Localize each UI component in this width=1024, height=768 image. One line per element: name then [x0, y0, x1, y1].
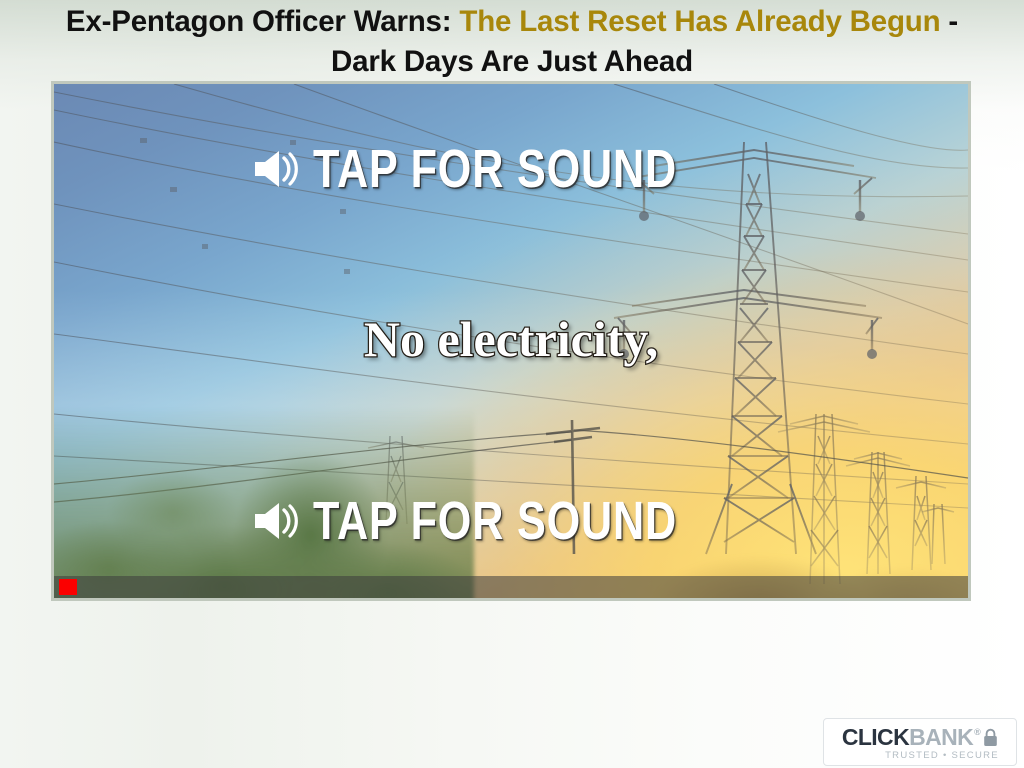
tap-for-sound-overlay-top[interactable]: TAP FOR SOUND: [54, 142, 968, 196]
clickbank-word-light: BANK: [909, 726, 973, 749]
video-player-frame: TAP FOR SOUND No electricity, TAP FOR SO…: [51, 81, 971, 601]
video-progress-bar[interactable]: [54, 576, 968, 598]
speaker-sound-icon: [253, 500, 299, 542]
clickbank-trust-badge[interactable]: CLICK BANK ® TRUSTED • SECURE: [823, 718, 1017, 766]
clickbank-wordmark: CLICK BANK ®: [842, 726, 998, 749]
registered-trademark-symbol: ®: [974, 728, 980, 737]
page-headline: Ex-Pentagon Officer Warns: The Last Rese…: [0, 2, 1024, 82]
headline-highlight: The Last Reset Has Already Begun: [459, 5, 940, 38]
clickbank-word-dark: CLICK: [842, 726, 909, 749]
clickbank-tagline: TRUSTED • SECURE: [885, 750, 999, 761]
video-subtitle: No electricity,: [54, 312, 968, 366]
foreground-trees: [54, 374, 474, 598]
padlock-icon: [983, 728, 998, 747]
tap-for-sound-label-top: TAP FOR SOUND: [313, 142, 677, 196]
video-player[interactable]: TAP FOR SOUND No electricity, TAP FOR SO…: [54, 84, 968, 598]
page-background: Ex-Pentagon Officer Warns: The Last Rese…: [0, 0, 1024, 768]
video-progress-fill[interactable]: [59, 579, 77, 595]
tap-for-sound-label-bottom: TAP FOR SOUND: [313, 494, 677, 548]
tap-for-sound-overlay-bottom[interactable]: TAP FOR SOUND: [54, 494, 968, 548]
headline-part-one: Ex-Pentagon Officer Warns:: [66, 5, 459, 38]
speaker-sound-icon: [253, 148, 299, 190]
